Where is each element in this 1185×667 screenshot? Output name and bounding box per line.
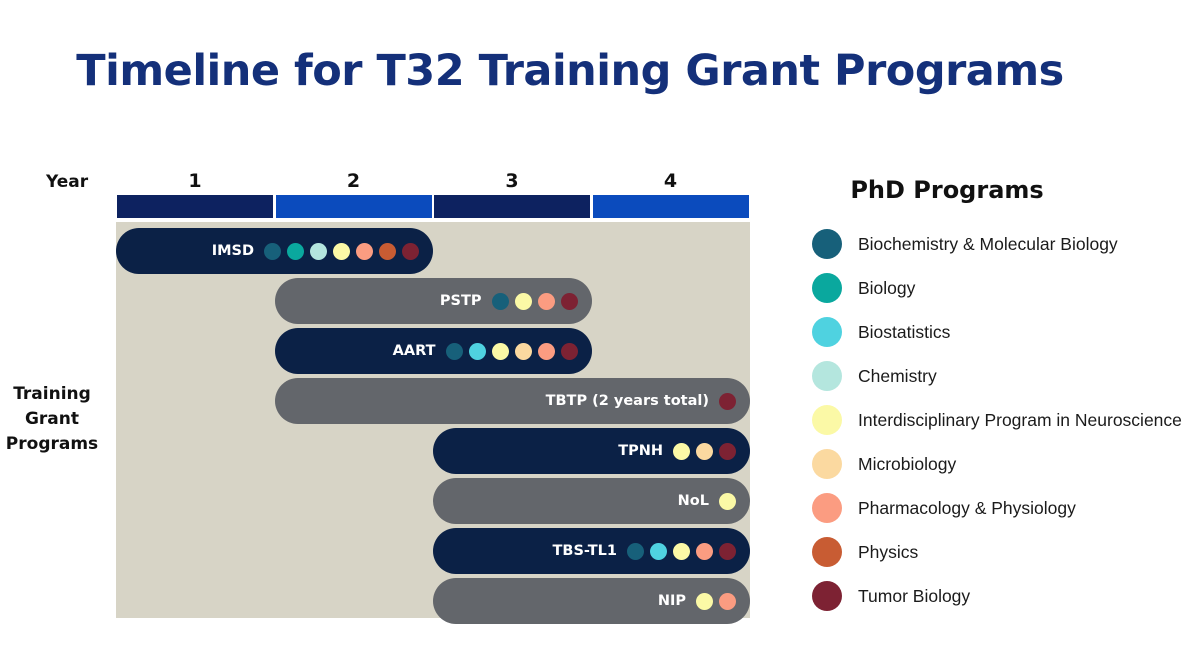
program-dot-pharmacology — [356, 243, 373, 260]
track-bar: TPNH — [433, 428, 750, 474]
program-dot-tumorbiology — [561, 293, 578, 310]
legend-item-microbiology[interactable]: Microbiology — [812, 442, 1182, 486]
track-label: AART — [393, 343, 436, 359]
legend-swatch-neuroscience — [812, 405, 842, 435]
year-column-4: 4 — [592, 170, 750, 218]
legend-label: Microbiology — [858, 454, 956, 475]
program-dot-biochemistry — [492, 293, 509, 310]
track-bar: PSTP — [275, 278, 592, 324]
row-axis-label-line2: Grant — [25, 409, 79, 429]
legend-item-neuroscience[interactable]: Interdisciplinary Program in Neuroscienc… — [812, 398, 1182, 442]
year-axis-label: Year — [46, 172, 88, 192]
program-dot-group — [696, 593, 736, 610]
page-title: Timeline for T32 Training Grant Programs — [0, 46, 1140, 96]
program-dot-tumorbiology — [719, 543, 736, 560]
track-label: TPNH — [618, 443, 663, 459]
track-label: NoL — [678, 493, 709, 509]
legend-item-list: Biochemistry & Molecular BiologyBiologyB… — [812, 222, 1182, 618]
legend-item-physics[interactable]: Physics — [812, 530, 1182, 574]
track-bar: IMSD — [116, 228, 433, 274]
row-axis-label: Training Grant Programs — [0, 382, 104, 457]
legend-swatch-chemistry — [812, 361, 842, 391]
program-dot-biology — [287, 243, 304, 260]
legend-swatch-pharmacology — [812, 493, 842, 523]
year-header-row: 1234 — [116, 170, 750, 218]
year-bar-2 — [276, 195, 432, 218]
timeline-track-imsd[interactable]: IMSD — [116, 228, 433, 274]
track-label: TBS-TL1 — [553, 543, 618, 559]
year-bar-3 — [434, 195, 590, 218]
legend-label: Chemistry — [858, 366, 937, 387]
timeline-track-nip[interactable]: NIP — [433, 578, 750, 624]
timeline-track-tbtp[interactable]: TBTP (2 years total) — [275, 378, 751, 424]
legend-item-biostatistics[interactable]: Biostatistics — [812, 310, 1182, 354]
program-dot-biochemistry — [446, 343, 463, 360]
program-dot-pharmacology — [538, 343, 555, 360]
program-dot-biochemistry — [264, 243, 281, 260]
program-dot-group — [492, 293, 578, 310]
program-dot-tumorbiology — [719, 393, 736, 410]
program-dot-group — [719, 393, 736, 410]
legend-label: Physics — [858, 542, 918, 563]
program-dot-group — [719, 493, 736, 510]
legend-swatch-microbiology — [812, 449, 842, 479]
legend-swatch-tumorbiology — [812, 581, 842, 611]
timeline-track-aart[interactable]: AART — [275, 328, 592, 374]
program-dot-neuroscience — [696, 593, 713, 610]
timeline-panel: IMSDPSTPAARTTBTP (2 years total)TPNHNoLT… — [116, 222, 750, 618]
program-dot-tumorbiology — [561, 343, 578, 360]
program-dot-pharmacology — [719, 593, 736, 610]
legend-item-pharmacology[interactable]: Pharmacology & Physiology — [812, 486, 1182, 530]
legend-label: Interdisciplinary Program in Neuroscienc… — [858, 410, 1182, 431]
year-tick-label: 1 — [116, 170, 274, 192]
program-dot-neuroscience — [719, 493, 736, 510]
year-bar-4 — [593, 195, 749, 218]
program-dot-chemistry — [310, 243, 327, 260]
track-bar: TBTP (2 years total) — [275, 378, 751, 424]
year-column-1: 1 — [116, 170, 274, 218]
track-bar: NIP — [433, 578, 750, 624]
track-label: IMSD — [212, 243, 254, 259]
program-dot-physics — [379, 243, 396, 260]
legend-swatch-physics — [812, 537, 842, 567]
program-dot-biostatistics — [469, 343, 486, 360]
legend-label: Biostatistics — [858, 322, 950, 343]
track-label: NIP — [658, 593, 686, 609]
program-dot-group — [673, 443, 736, 460]
program-dot-group — [627, 543, 736, 560]
program-dot-neuroscience — [515, 293, 532, 310]
program-dot-biostatistics — [650, 543, 667, 560]
legend-swatch-biochemistry — [812, 229, 842, 259]
year-bar-1 — [117, 195, 273, 218]
track-label: PSTP — [440, 293, 482, 309]
legend-swatch-biology — [812, 273, 842, 303]
track-label: TBTP (2 years total) — [546, 393, 709, 409]
timeline-track-tbs-tl1[interactable]: TBS-TL1 — [433, 528, 750, 574]
program-dot-group — [264, 243, 419, 260]
legend: PhD Programs Biochemistry & Molecular Bi… — [812, 176, 1182, 618]
legend-label: Tumor Biology — [858, 586, 970, 607]
legend-label: Biology — [858, 278, 915, 299]
track-bar: NoL — [433, 478, 750, 524]
year-tick-label: 4 — [592, 170, 750, 192]
program-dot-microbiology — [515, 343, 532, 360]
row-axis-label-line3: Programs — [6, 434, 98, 454]
timeline-track-nol[interactable]: NoL — [433, 478, 750, 524]
program-dot-pharmacology — [538, 293, 555, 310]
program-dot-pharmacology — [696, 543, 713, 560]
timeline-track-pstp[interactable]: PSTP — [275, 278, 592, 324]
program-dot-neuroscience — [673, 543, 690, 560]
row-axis-label-line1: Training — [13, 384, 91, 404]
legend-item-biochemistry[interactable]: Biochemistry & Molecular Biology — [812, 222, 1182, 266]
legend-swatch-biostatistics — [812, 317, 842, 347]
program-dot-group — [446, 343, 578, 360]
legend-item-biology[interactable]: Biology — [812, 266, 1182, 310]
year-tick-label: 3 — [433, 170, 591, 192]
track-bar: AART — [275, 328, 592, 374]
program-dot-tumorbiology — [402, 243, 419, 260]
legend-label: Pharmacology & Physiology — [858, 498, 1076, 519]
program-dot-biochemistry — [627, 543, 644, 560]
timeline-track-tpnh[interactable]: TPNH — [433, 428, 750, 474]
program-dot-neuroscience — [333, 243, 350, 260]
legend-title: PhD Programs — [812, 176, 1082, 204]
track-bar: TBS-TL1 — [433, 528, 750, 574]
program-dot-neuroscience — [673, 443, 690, 460]
program-dot-neuroscience — [492, 343, 509, 360]
program-dot-tumorbiology — [719, 443, 736, 460]
year-tick-label: 2 — [275, 170, 433, 192]
year-column-2: 2 — [275, 170, 433, 218]
legend-item-tumorbiology[interactable]: Tumor Biology — [812, 574, 1182, 618]
year-column-3: 3 — [433, 170, 591, 218]
legend-item-chemistry[interactable]: Chemistry — [812, 354, 1182, 398]
legend-label: Biochemistry & Molecular Biology — [858, 234, 1118, 255]
program-dot-microbiology — [696, 443, 713, 460]
